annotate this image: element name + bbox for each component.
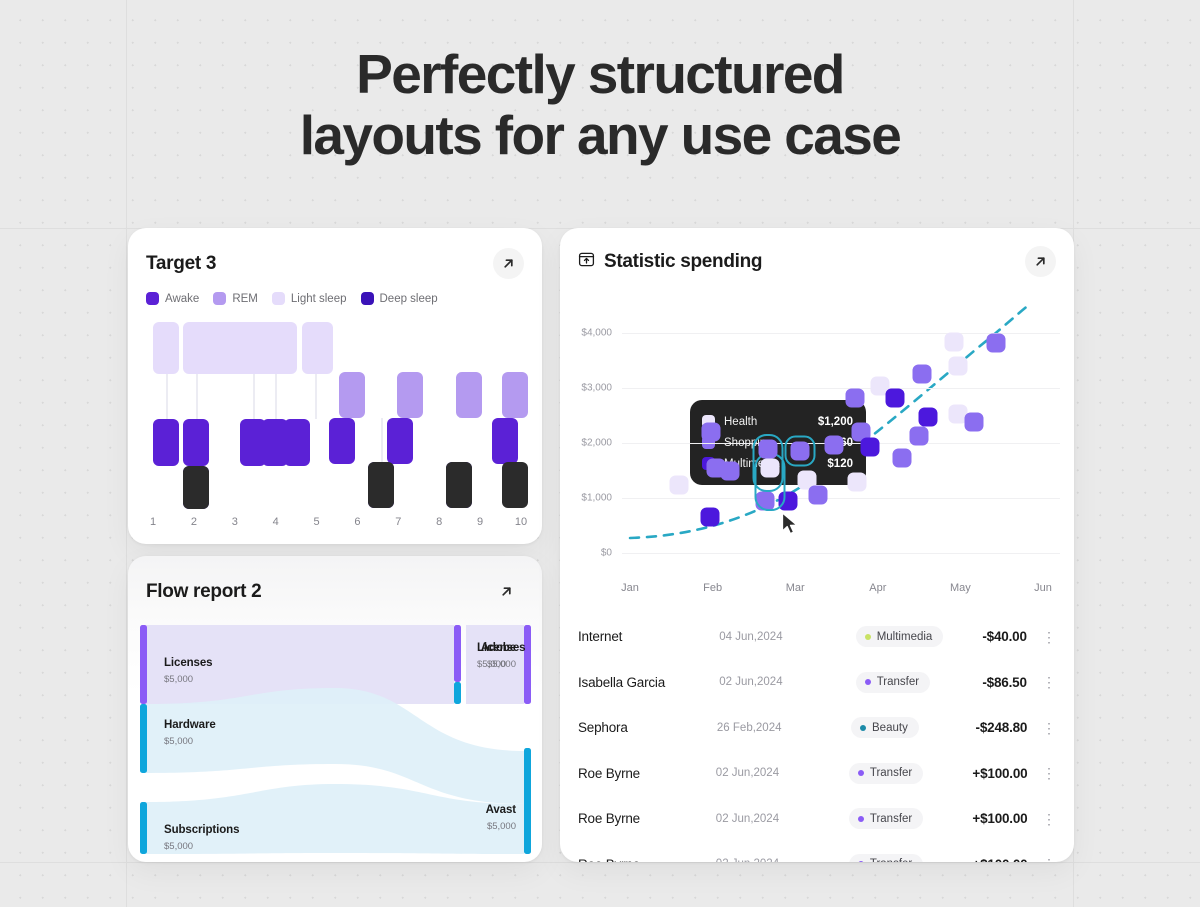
transaction-amount: +$100.00 [972,811,1027,826]
legend-item-light-sleep[interactable]: Light sleep [272,292,347,305]
tooltip-row: Health $1,200 [702,411,853,432]
transaction-tag-wrap: Transfer [856,672,983,693]
scatter-point-shopping[interactable] [809,486,828,505]
sankey-node-label: Hardware [164,719,216,731]
legend-label: REM [232,293,258,305]
scatter-point-multimedia[interactable] [886,389,905,408]
arrow-up-right-icon[interactable] [491,576,522,607]
transaction-tag[interactable]: Multimedia [856,626,944,647]
legend-swatch-icon [361,292,374,305]
y-axis-tick: $4,000 [581,328,612,339]
page-title-line-1: Perfectly structured [0,44,1200,105]
transactions-list: Internet04 Jun,2024Multimedia-$40.00⋮Isa… [560,614,1074,862]
transaction-date: 02 Jun,2024 [716,813,849,825]
transaction-row[interactable]: Isabella Garcia02 Jun,2024Transfer-$86.5… [560,660,1074,706]
scatter-point-shopping[interactable] [825,436,844,455]
sleep-bar-rem[interactable] [397,372,423,418]
scatter-point-shopping[interactable] [759,440,778,459]
sleep-bar-connector [315,374,317,419]
page-title: Perfectly structured layouts for any use… [0,44,1200,166]
x-axis-tick: Apr [869,582,886,594]
transaction-amount: -$40.00 [982,629,1026,644]
legend-label: Light sleep [291,293,347,305]
arrow-up-right-icon[interactable] [1025,246,1056,277]
kebab-menu-icon[interactable]: ⋮ [1027,721,1056,735]
sankey-node-label: Avast [486,804,516,816]
kebab-menu-icon[interactable]: ⋮ [1027,812,1056,826]
sleep-bar-awake[interactable] [183,419,209,466]
transaction-tag[interactable]: Transfer [856,672,930,693]
transaction-tag-label: Transfer [870,858,912,862]
sleep-bar-rem[interactable] [339,372,365,418]
transaction-date: 02 Jun,2024 [716,767,849,779]
x-axis-tick: 9 [477,516,483,528]
spending-scatter-chart: Health $1,200 Shopping $560 Multimedia $… [560,286,1074,582]
scatter-point-multimedia[interactable] [861,438,880,457]
tag-dot-icon [858,816,864,822]
transaction-name: Internet [578,629,719,644]
sankey-diagram: Licenses $5,000 Hardware $5,000 Subscrip… [128,616,542,862]
scatter-point-shopping[interactable] [791,442,810,461]
sleep-bar-connector [381,418,383,462]
transaction-tag-wrap: Transfer [849,763,973,784]
transaction-tag[interactable]: Transfer [849,763,923,784]
transaction-tag-wrap: Transfer [849,854,973,862]
sleep-bar-awake[interactable] [387,418,413,464]
sleep-bar-awake-dark[interactable] [446,462,472,508]
transaction-row[interactable]: Roe Byrne02 Jun,2024Transfer+$100.00⋮ [560,842,1074,863]
legend-item-awake[interactable]: Awake [146,292,199,305]
sleep-bar-awake[interactable] [492,418,518,464]
sleep-bar-connector [275,374,277,419]
transaction-tag-label: Transfer [870,813,912,825]
x-axis-tick: 2 [191,516,197,528]
target-card: Target 3 AwakeREMLight sleepDeep sleep 1… [128,228,542,544]
transaction-row[interactable]: Roe Byrne02 Jun,2024Transfer+$100.00⋮ [560,751,1074,797]
legend-label: Awake [165,293,199,305]
page-root: Perfectly structured layouts for any use… [0,0,1200,907]
y-axis-tick: $1,000 [581,493,612,504]
sleep-bar-connector [196,374,198,419]
sleep-bar-awake[interactable] [329,418,355,464]
legend-item-rem[interactable]: REM [213,292,258,305]
transaction-name: Roe Byrne [578,766,716,781]
transaction-date: 02 Jun,2024 [716,858,849,862]
transaction-tag[interactable]: Transfer [849,808,923,829]
kebab-menu-icon[interactable]: ⋮ [1027,630,1056,644]
x-axis-tick: Mar [786,582,805,594]
sleep-bar-rem[interactable] [502,372,528,418]
tag-dot-icon [858,861,864,862]
x-axis-tick: May [950,582,971,594]
sankey-node-value: $5,000 [164,736,193,747]
sankey-node-value: $5,000 [164,674,193,685]
sankey-node-value: $5,000 [487,659,516,670]
target-chart-legend: AwakeREMLight sleepDeep sleep [128,279,542,305]
sleep-bar-connector [253,374,255,419]
transaction-tag-wrap: Multimedia [856,626,983,647]
grid-line [622,553,1060,554]
scatter-point-shopping[interactable] [893,449,912,468]
scatter-point-shopping[interactable] [846,389,865,408]
x-axis-tick: 7 [395,516,401,528]
sleep-bar-awake-dark[interactable] [368,462,394,508]
scatter-point-health[interactable] [945,333,964,352]
sleep-bar-light-sleep[interactable] [153,322,179,374]
target-card-header: Target 3 [128,228,542,279]
target-chart-plot [146,322,528,508]
tag-dot-icon [860,725,866,731]
x-axis-tick: Jun [1034,582,1052,594]
x-axis-tick: 4 [273,516,279,528]
tag-dot-icon [865,634,871,640]
transaction-row[interactable]: Sephora26 Feb,2024Beauty-$248.80⋮ [560,705,1074,751]
y-axis-tick: $2,000 [581,438,612,449]
x-axis-tick: 8 [436,516,442,528]
statistic-spending-header: Statistic spending [560,228,1074,277]
transaction-name: Sephora [578,720,717,735]
legend-swatch-icon [146,292,159,305]
transaction-amount: -$248.80 [976,720,1028,735]
sleep-bar-awake-dark[interactable] [183,466,209,509]
transaction-tag-wrap: Beauty [851,717,976,738]
target-chart-x-axis: 12345678910 [146,516,528,532]
mouse-cursor-icon [781,512,800,541]
sleep-bar-awake[interactable] [153,419,179,466]
transaction-date: 26 Feb,2024 [717,722,851,734]
grid-line [622,388,1060,389]
scatter-point-multimedia[interactable] [701,508,720,527]
sankey-node-label: Licenses [164,657,212,669]
transaction-amount: -$86.50 [982,675,1026,690]
transaction-tag-label: Beauty [872,722,908,734]
scatter-point-shopping[interactable] [910,427,929,446]
scatter-point-shopping[interactable] [913,365,932,384]
transaction-amount: +$100.00 [972,766,1027,781]
layout-guide-horizontal-bottom [0,862,1200,863]
sankey-node-value: $5,000 [164,841,193,852]
sleep-bar-awake[interactable] [284,419,310,466]
scatter-point-shopping[interactable] [987,334,1006,353]
sleep-bar-connector [166,374,168,419]
kebab-menu-icon[interactable]: ⋮ [1027,766,1056,780]
transaction-tag[interactable]: Transfer [849,854,923,862]
scatter-point-multimedia[interactable] [919,408,938,427]
page-title-line-2: layouts for any use case [0,105,1200,166]
x-axis-tick: 5 [313,516,319,528]
scatter-point-shopping[interactable] [707,459,726,478]
statistic-spending-card: Statistic spending Health $1,200 [560,228,1074,862]
x-axis-tick: 1 [150,516,156,528]
flow-report-header: Flow report 2 [128,556,542,607]
transaction-row[interactable]: Internet04 Jun,2024Multimedia-$40.00⋮ [560,614,1074,660]
sankey-node-value: $5,000 [487,821,516,832]
transaction-name: Roe Byrne [578,811,716,826]
scatter-point-health[interactable] [949,357,968,376]
transaction-amount: +$100.00 [972,857,1027,862]
tooltip-label: Health [724,416,796,428]
legend-label: Deep sleep [380,293,438,305]
legend-swatch-icon [213,292,226,305]
export-box-icon [578,251,595,273]
statistic-spending-title-wrap: Statistic spending [578,251,762,273]
x-axis-tick: 6 [354,516,360,528]
tag-dot-icon [858,770,864,776]
sankey-node-label: Subscriptions [164,824,239,836]
transaction-tag-label: Transfer [870,767,912,779]
arrow-up-right-icon[interactable] [493,248,524,279]
transaction-row[interactable]: Roe Byrne02 Jun,2024Transfer+$100.00⋮ [560,796,1074,842]
transaction-name: Isabella Garcia [578,675,719,690]
transaction-tag[interactable]: Beauty [851,717,919,738]
grid-line [622,498,1060,499]
x-axis-tick: 10 [515,516,527,528]
transaction-tag-wrap: Transfer [849,808,973,829]
transaction-name: Roe Byrne [578,857,716,862]
flow-report-card: Flow report 2 [128,556,542,862]
kebab-menu-icon[interactable]: ⋮ [1027,857,1056,862]
y-axis-tick: $0 [601,548,612,559]
flow-report-title: Flow report 2 [146,581,261,603]
sankey-node-label: Adobe [481,642,516,654]
sleep-bar-awake-dark[interactable] [502,462,528,508]
x-axis-tick: Feb [703,582,722,594]
sleep-bar-light-sleep[interactable] [302,322,333,374]
transaction-date: 04 Jun,2024 [719,631,855,643]
sleep-bar-rem[interactable] [456,372,482,418]
x-axis-tick: Jan [621,582,639,594]
y-axis-tick: $3,000 [581,383,612,394]
legend-swatch-icon [272,292,285,305]
transaction-tag-label: Transfer [877,676,919,688]
sleep-bar-light-sleep[interactable] [271,322,297,374]
x-axis-tick: 3 [232,516,238,528]
legend-item-deep-sleep[interactable]: Deep sleep [361,292,438,305]
scatter-point-health[interactable] [848,473,867,492]
target-card-title: Target 3 [146,253,216,275]
statistic-spending-title: Statistic spending [604,251,762,273]
tag-dot-icon [865,679,871,685]
tooltip-value: $1,200 [805,416,853,428]
scatter-point-health[interactable] [670,476,689,495]
scatter-point-shopping[interactable] [702,423,721,442]
transaction-date: 02 Jun,2024 [719,676,855,688]
kebab-menu-icon[interactable]: ⋮ [1027,675,1056,689]
transaction-tag-label: Multimedia [877,631,933,643]
scatter-point-shopping[interactable] [965,413,984,432]
